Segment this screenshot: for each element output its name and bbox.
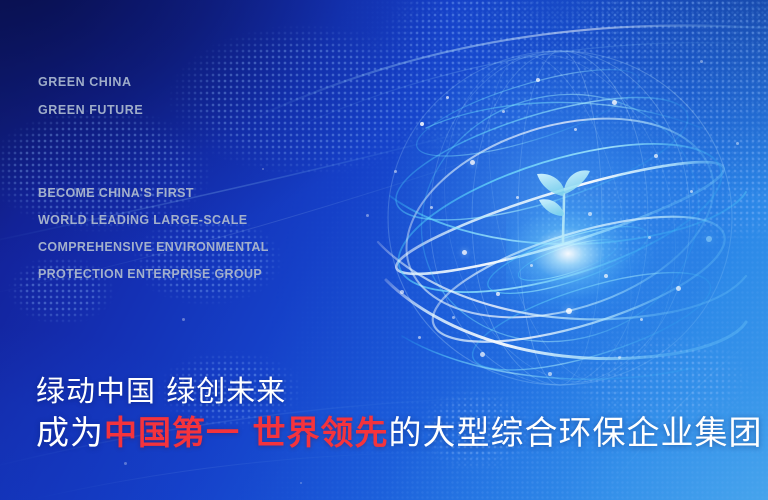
headline-highlight: 中国第一 世界领先 [104,413,389,452]
headline-chinese-primary: 绿动中国 绿创未来 [36,368,286,410]
banner-copy: GREEN CHINA GREEN FUTURE BECOME CHINA'S … [0,0,768,500]
mission-line-1: BECOME CHINA'S FIRST [38,186,194,200]
hero-banner: GREEN CHINA GREEN FUTURE BECOME CHINA'S … [0,0,768,500]
tagline-line-1: GREEN CHINA [38,75,132,89]
mission-line-2: WORLD LEADING LARGE-SCALE [38,213,247,227]
headline-chinese-secondary: 成为中国第一 世界领先的大型综合环保企业集团 [36,406,763,454]
mission-line-3: COMPREHENSIVE ENVIRONMENTAL [38,240,269,254]
headline-suffix: 的大型综合环保企业集团 [389,413,763,452]
tagline-line-2: GREEN FUTURE [38,103,143,117]
headline-prefix: 成为 [36,413,104,452]
mission-line-4: PROTECTION ENTERPRISE GROUP [38,267,262,281]
